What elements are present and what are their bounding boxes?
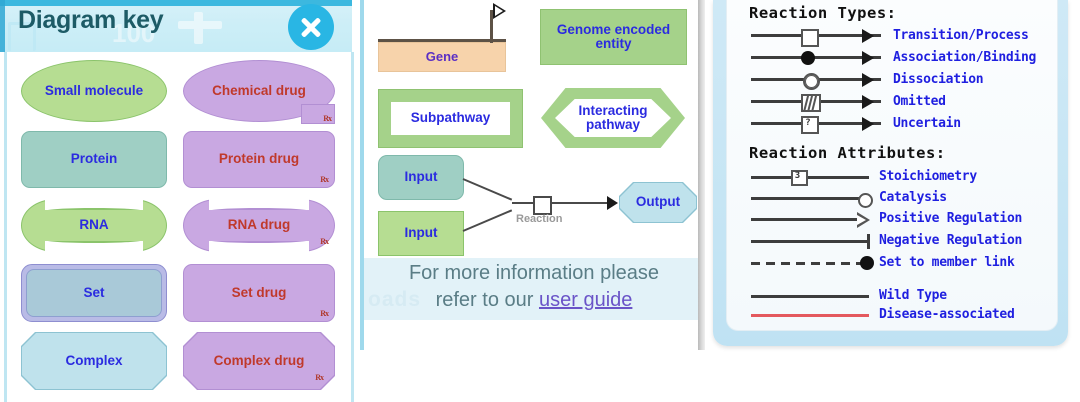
- reaction-legend-panel: Reaction Types: Transition/Process Assoc…: [713, 0, 1068, 346]
- open-square-icon: [801, 29, 819, 47]
- footer-line-2: refer to our user guide: [364, 287, 704, 314]
- edge-arrowhead: [607, 196, 618, 210]
- shape-ellipse: [21, 60, 167, 122]
- background-plus-icon: [178, 12, 222, 44]
- node-interacting-pathway[interactable]: Interacting pathway: [541, 88, 685, 148]
- edge-input-bottom: [463, 209, 513, 232]
- gene-box: [378, 42, 506, 72]
- question-mark-label: ?: [801, 116, 815, 130]
- bone-body: [209, 210, 309, 241]
- legend-item-protein-drug[interactable]: Rx Protein drug: [183, 131, 335, 188]
- legend-label-stoichiometry: Stoichiometry: [879, 169, 977, 184]
- node-input-top[interactable]: Input: [378, 155, 464, 200]
- node-label: Input: [379, 212, 463, 255]
- edge-input-top: [463, 178, 513, 201]
- glyph-line: [751, 197, 859, 200]
- footer-text: For more information please refer to our…: [364, 260, 704, 314]
- reaction-label: Reaction: [516, 213, 562, 225]
- legend-item-rna-drug[interactable]: Rx RNA drug: [183, 199, 335, 252]
- node-label-line1: Genome encoded: [557, 23, 670, 37]
- legend-item-set-drug[interactable]: Rx Set drug: [183, 264, 335, 322]
- glyph-line: [751, 218, 857, 221]
- legend-label-set-to-member-link: Set to member link: [879, 255, 1014, 270]
- diagram-key-panel: 100 Diagram key Small molecule Rx Ch: [0, 0, 352, 402]
- footer-line-1: For more information please: [364, 260, 704, 287]
- legend-label-association-binding: Association/Binding: [893, 50, 1036, 65]
- rx-badge: Rx: [320, 237, 328, 246]
- arrowhead-icon: [862, 73, 874, 87]
- section-heading-reaction-attributes: Reaction Attributes:: [749, 144, 946, 162]
- node-label-line2: entity: [595, 37, 631, 51]
- legend-item-complex[interactable]: Complex: [21, 332, 167, 390]
- arrowhead-icon: [862, 117, 874, 131]
- node-input-bottom[interactable]: Input: [378, 211, 464, 256]
- node-subpathway[interactable]: Subpathway: [378, 89, 523, 148]
- diagram-canvas: Gene Genome encoded entity Subpathway: [364, 0, 704, 260]
- page-title: Diagram key: [18, 6, 163, 35]
- entity-legend-grid: Small molecule Rx Chemical drug Protein: [7, 52, 351, 402]
- arrowhead-icon: [862, 51, 874, 65]
- legend-label-disease-associated: Disease-associated: [879, 307, 1014, 322]
- legend-item-complex-drug[interactable]: Rx Complex drug: [183, 332, 335, 390]
- reaction-legend-card: Reaction Types: Transition/Process Assoc…: [726, 0, 1058, 331]
- open-circle-end-icon: [858, 193, 873, 208]
- edge-to-output: [550, 202, 608, 204]
- rx-badge: Rx: [320, 175, 328, 184]
- shape-rounded-rect: [183, 264, 335, 322]
- glyph-line: [751, 240, 869, 243]
- more-information-footer: oads For more information please refer t…: [364, 258, 704, 320]
- subpathway-inner: [391, 102, 510, 135]
- gene-top-line: [378, 39, 506, 42]
- diagram-example-panel: Gene Genome encoded entity Subpathway: [360, 0, 704, 350]
- gene-arrow-head: [493, 3, 506, 19]
- left-edge-strip: [0, 0, 5, 52]
- arrowhead-icon: [862, 95, 874, 109]
- legend-item-rna[interactable]: RNA: [21, 199, 167, 252]
- node-gene[interactable]: Gene: [378, 42, 506, 72]
- inner-circle-icon: [805, 75, 818, 88]
- shape-rounded-rect: [21, 131, 167, 188]
- bone-body: [45, 210, 143, 241]
- legend-label-wild-type: Wild Type: [879, 288, 947, 303]
- panel-divider-shadow: [698, 0, 705, 350]
- diagram-key-body: Small molecule Rx Chemical drug Protein: [4, 52, 354, 402]
- filled-circle-end-icon: [860, 256, 874, 270]
- t-bar-icon: [867, 234, 870, 249]
- close-icon[interactable]: [288, 4, 334, 50]
- shape-rounded-rect: [26, 269, 162, 317]
- legend-label-omitted: Omitted: [893, 94, 946, 109]
- diagram-key-header: 100 Diagram key: [0, 0, 352, 52]
- shape-octagon: [22, 333, 166, 389]
- shape-rounded-rect: [183, 131, 335, 188]
- legend-item-small-molecule[interactable]: Small molecule: [21, 60, 167, 122]
- rx-badge: Rx: [323, 114, 331, 123]
- node-label: Genome encoded entity: [541, 10, 686, 64]
- screenshot-root: 100 Diagram key Small molecule Rx Ch: [0, 0, 1080, 402]
- filled-circle-icon: [801, 51, 815, 65]
- red-line-icon: [751, 314, 869, 317]
- node-output[interactable]: Output: [619, 182, 697, 223]
- legend-label-uncertain: Uncertain: [893, 116, 961, 131]
- node-genome-encoded-entity[interactable]: Genome encoded entity: [540, 9, 687, 65]
- legend-label-transition-process: Transition/Process: [893, 28, 1028, 43]
- section-heading-reaction-types: Reaction Types:: [749, 4, 896, 22]
- legend-label-catalysis: Catalysis: [879, 190, 947, 205]
- dashed-line-icon: [751, 262, 863, 265]
- footer-line-2-prefix: refer to our: [436, 289, 539, 311]
- rx-badge: Rx: [315, 373, 323, 382]
- shape-octagon: [620, 183, 696, 222]
- rx-badge: Rx: [320, 309, 328, 318]
- node-label: Input: [379, 156, 463, 199]
- solid-line-icon: [751, 295, 869, 298]
- hatched-square-icon: [801, 94, 821, 112]
- user-guide-link[interactable]: user guide: [539, 289, 632, 311]
- glyph-line: [751, 176, 869, 179]
- legend-item-protein[interactable]: Protein: [21, 131, 167, 188]
- legend-item-set[interactable]: Set: [21, 264, 167, 322]
- legend-item-chemical-drug[interactable]: Rx Chemical drug: [183, 60, 335, 122]
- legend-label-positive-regulation: Positive Regulation: [879, 211, 1022, 226]
- hexagon-inner: [555, 99, 671, 137]
- stoichiometry-number: 3: [791, 170, 804, 183]
- legend-label-negative-regulation: Negative Regulation: [879, 233, 1022, 248]
- legend-label-dissociation: Dissociation: [893, 72, 983, 87]
- shape-octagon: [184, 333, 334, 389]
- arrowhead-icon: [862, 29, 874, 43]
- edge-to-node: [512, 202, 534, 204]
- open-triangle-icon: [857, 212, 870, 228]
